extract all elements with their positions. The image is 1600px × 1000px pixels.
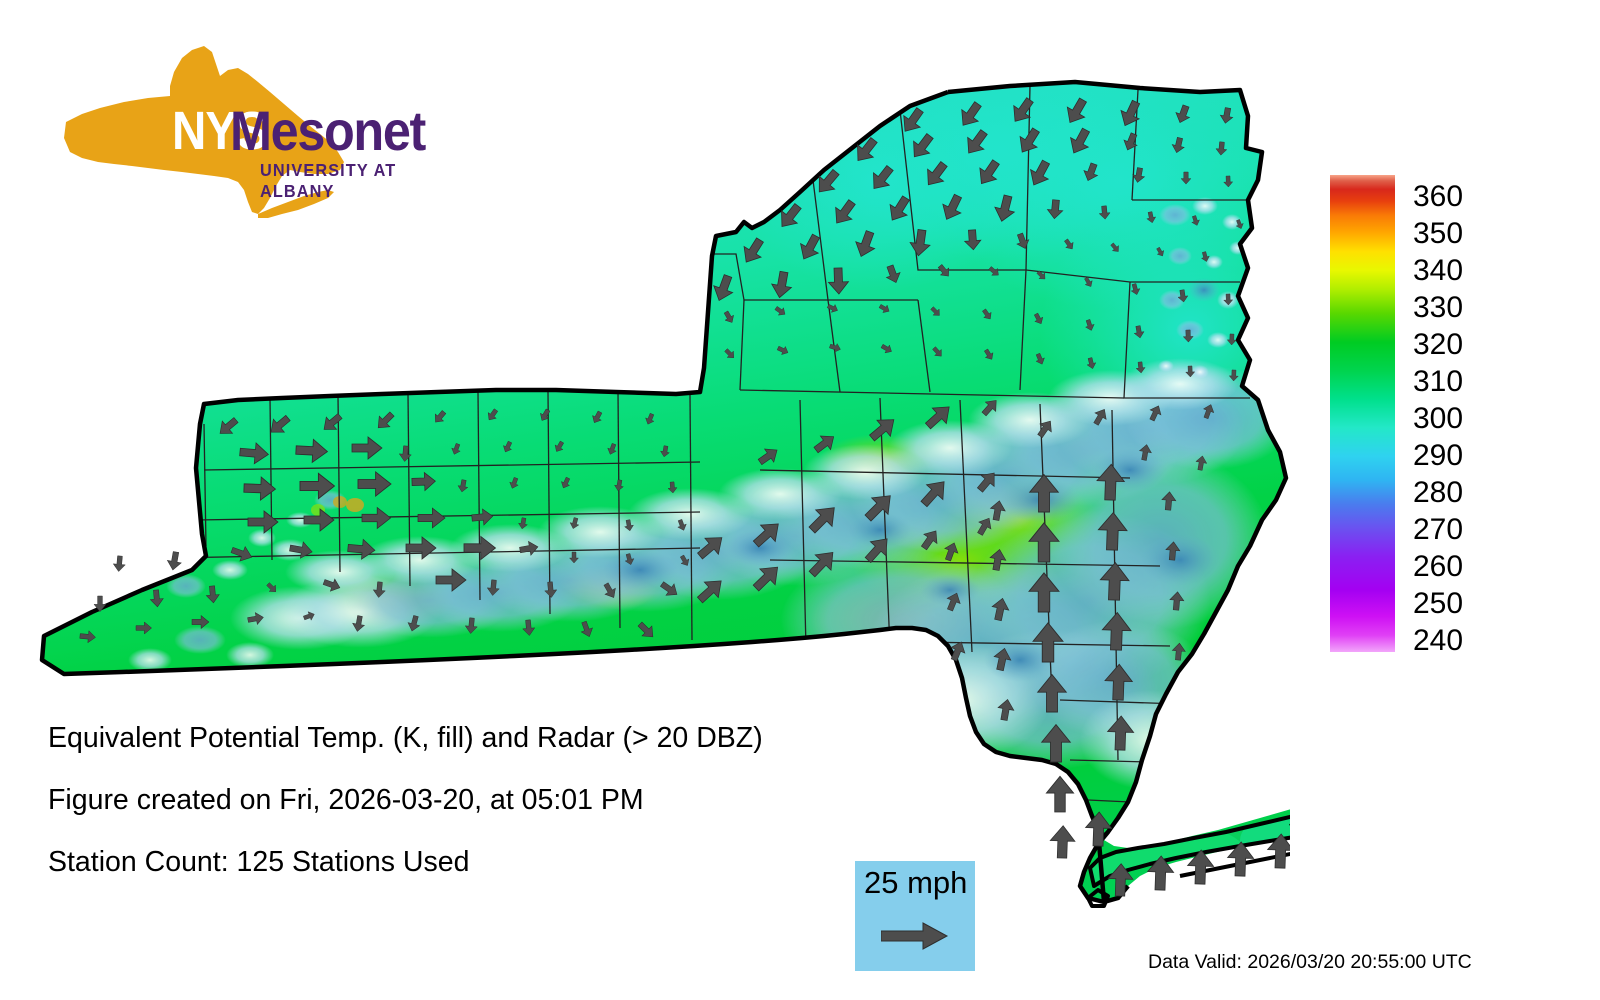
colorbar-tick-340: 340 xyxy=(1413,256,1463,286)
colorbar-tick-360: 360 xyxy=(1413,182,1463,212)
colorbar-tick-300: 300 xyxy=(1413,404,1463,434)
colorbar-tick-280: 280 xyxy=(1413,478,1463,508)
colorbar-tick-240: 240 xyxy=(1413,626,1463,656)
wind-scale-label: 25 mph xyxy=(864,865,967,901)
colorbar-tick-labels: 360 350 340 330 320 310 300 290 280 270 … xyxy=(1413,175,1533,652)
figure-created-text: Figure created on Fri, 2026-03-20, at 05… xyxy=(48,784,644,817)
wind-scale-arrow-icon xyxy=(881,921,951,951)
colorbar-gradient xyxy=(1330,175,1395,652)
colorbar-tick-270: 270 xyxy=(1413,515,1463,545)
colorbar-tick-290: 290 xyxy=(1413,441,1463,471)
colorbar xyxy=(1330,175,1395,652)
colorbar-tick-310: 310 xyxy=(1413,367,1463,397)
wind-scale-legend: 25 mph xyxy=(855,861,975,971)
colorbar-tick-320: 320 xyxy=(1413,330,1463,360)
data-valid-timestamp: Data Valid: 2026/03/20 20:55:00 UTC xyxy=(1148,951,1472,974)
colorbar-tick-330: 330 xyxy=(1413,293,1463,323)
colorbar-tick-350: 350 xyxy=(1413,219,1463,249)
plot-title: Equivalent Potential Temp. (K, fill) and… xyxy=(48,722,763,755)
station-count-text: Station Count: 125 Stations Used xyxy=(48,846,469,879)
colorbar-tick-250: 250 xyxy=(1413,589,1463,619)
colorbar-tick-260: 260 xyxy=(1413,552,1463,582)
